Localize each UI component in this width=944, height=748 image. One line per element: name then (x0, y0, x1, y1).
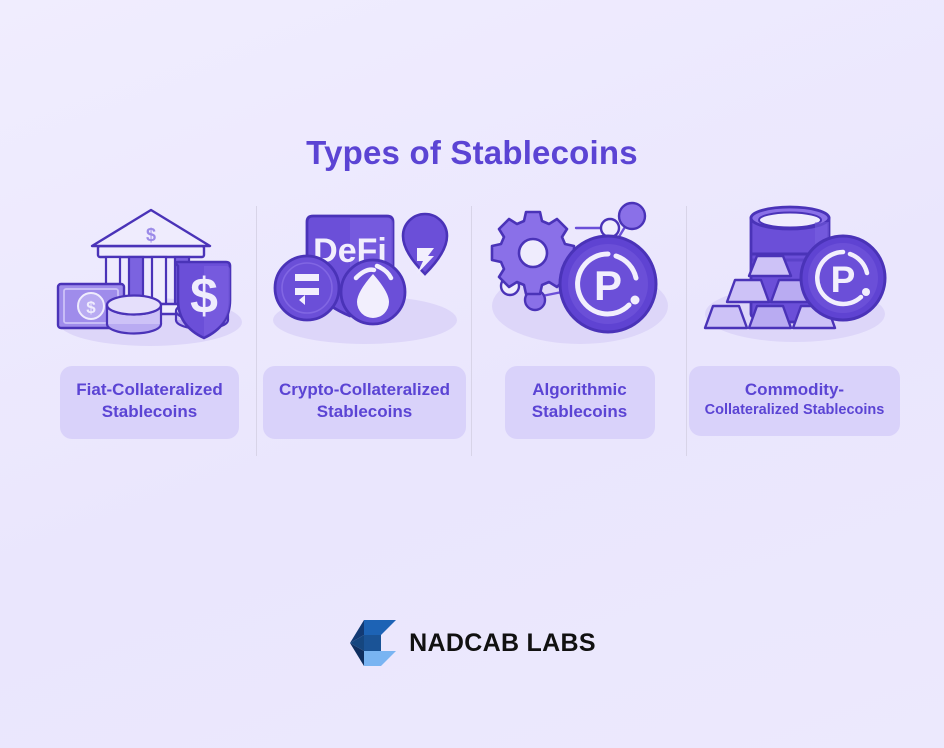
column-fiat-collateralized[interactable]: $ (42, 196, 257, 456)
label-algorithmic[interactable]: Algorithmic Stablecoins (505, 366, 655, 439)
network-node-icon (601, 219, 619, 237)
p-coin-icon: P (801, 236, 885, 320)
label-line-2: Stablecoins (279, 401, 450, 423)
brand-footer: NADCAB LABS (0, 618, 944, 668)
label-line-2: Stablecoins (521, 401, 639, 423)
coin-stack-center-icon (107, 296, 161, 334)
label-crypto-collateralized[interactable]: Crypto-Collateralized Stablecoins (263, 366, 466, 439)
label-commodity-collateralized[interactable]: Commodity- Collateralized Stablecoins (689, 366, 901, 436)
droplet-token-icon (341, 260, 405, 324)
svg-text:$: $ (145, 225, 155, 245)
network-node-icon (619, 203, 645, 229)
bank-shield-money-icon: $ (50, 196, 250, 354)
column-commodity-collateralized[interactable]: P Commodity- Collateralized Stablecoins (687, 196, 902, 456)
label-line-1: Fiat-Collateralized (76, 379, 222, 401)
svg-text:$: $ (86, 298, 96, 317)
p-coin-icon: P (560, 236, 656, 332)
coin-symbol: P (593, 262, 621, 309)
label-line-1: Algorithmic (521, 379, 639, 401)
column-algorithmic[interactable]: P Algorithmic Stablecoins (472, 196, 687, 456)
defi-shield-tokens-icon: DeFi (265, 196, 465, 354)
barrel-goldbars-coin-icon: P (695, 196, 895, 354)
page-title: Types of Stablecoins (0, 134, 944, 172)
label-line-1: Commodity- (705, 379, 885, 401)
stablecoin-type-columns: $ (42, 196, 902, 456)
nadcab-chevron-logo (348, 618, 400, 668)
coin-symbol: P (830, 259, 855, 300)
column-crypto-collateralized[interactable]: DeFi (257, 196, 472, 456)
gear-network-coin-icon: P (480, 196, 680, 354)
infographic-poster: Types of Stablecoins $ (0, 0, 944, 748)
label-line-2: Stablecoins (76, 401, 222, 423)
label-line-2: Collateralized Stablecoins (705, 401, 885, 420)
token-coin-icon (275, 256, 339, 320)
label-fiat-collateralized[interactable]: Fiat-Collateralized Stablecoins (60, 366, 238, 439)
svg-text:$: $ (190, 268, 218, 324)
label-line-1: Crypto-Collateralized (279, 379, 450, 401)
brand-name: NADCAB LABS (409, 629, 596, 658)
droplet-badge-icon (403, 214, 447, 274)
